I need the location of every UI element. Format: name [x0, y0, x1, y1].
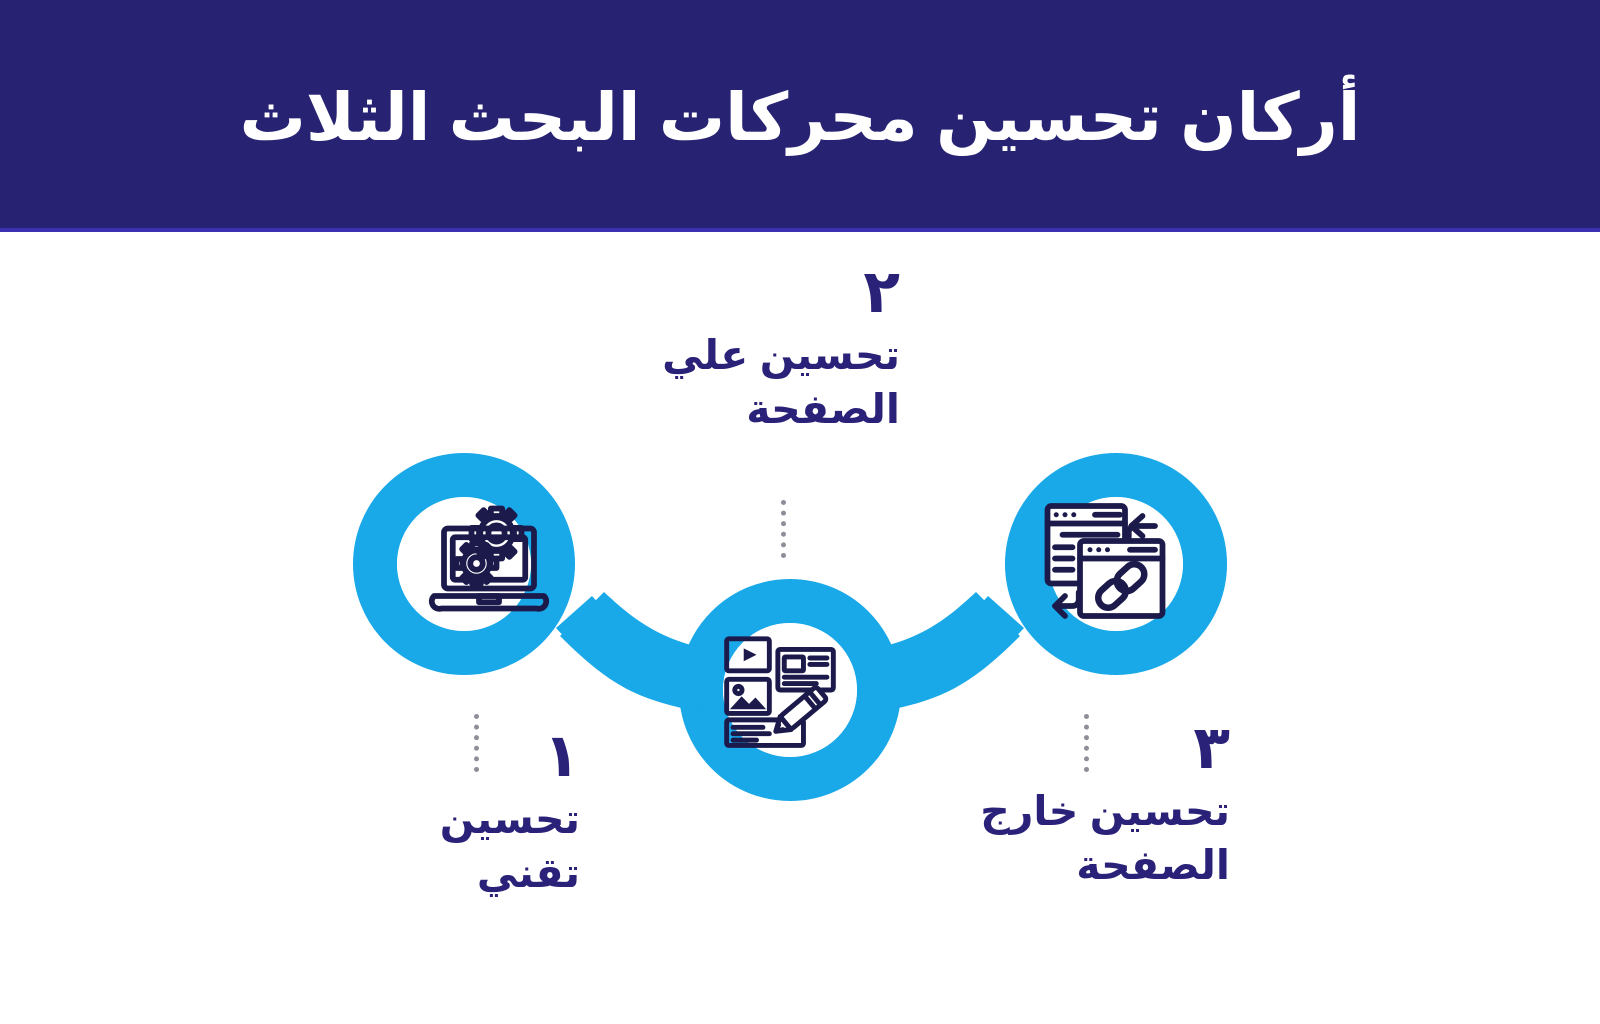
step-number-offpage: ٣: [930, 718, 1230, 778]
content-pencil-icon: [712, 622, 848, 758]
infographic-poster: أركان تحسين محركات البحث الثلاث: [0, 0, 1600, 1024]
dotted-connector-onpage: [781, 500, 791, 558]
header-band: أركان تحسين محركات البحث الثلاث: [0, 0, 1600, 228]
step-title-technical-line2: تقني: [330, 846, 580, 900]
step-title-technical-line1: تحسين: [330, 792, 580, 846]
page-title: أركان تحسين محركات البحث الثلاث: [240, 76, 1361, 159]
laptop-gears-icon: [408, 480, 570, 642]
step-title-onpage-line1: تحسين علي: [600, 328, 900, 382]
step-title-offpage-line1: تحسين خارج: [930, 784, 1230, 838]
header-divider: [0, 228, 1600, 232]
step-number-technical: ١: [330, 726, 580, 786]
step-label-technical: ١ تحسين تقني: [330, 726, 580, 900]
connector-band-onpage-offpage: [868, 592, 1024, 712]
step-number-onpage: ٢: [600, 262, 900, 322]
step-title-offpage-line2: الصفحة: [930, 838, 1230, 892]
step-title-onpage-line2: الصفحة: [600, 382, 900, 436]
step-label-onpage: ٢ تحسين علي الصفحة: [600, 262, 900, 436]
browser-link-icon: [1024, 480, 1186, 642]
step-label-offpage: ٣ تحسين خارج الصفحة: [930, 718, 1230, 892]
connector-band-technical-onpage: [556, 592, 712, 712]
